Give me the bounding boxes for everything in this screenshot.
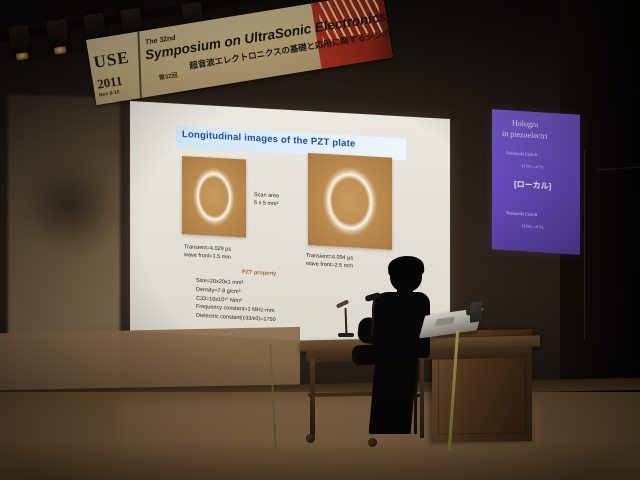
desk-caster xyxy=(368,438,377,447)
spotlight-icon xyxy=(8,25,32,57)
desk-leg xyxy=(420,356,424,438)
secondary-slide-author-line2: Nobuyuki Endoh xyxy=(506,210,537,217)
wall-seam-vertical xyxy=(584,150,585,340)
secondary-slide-affiliation-line1: (Univ. of Sc xyxy=(522,163,544,169)
secondary-slide-title-line1: Hologra xyxy=(512,118,538,129)
secondary-slide-affiliation-line2: (Univ. of Sc xyxy=(522,223,544,229)
pzt-property-list: Size=20x20x1 mm³ Density=7.8 g/cm³ C33=1… xyxy=(196,277,276,325)
laptop-screen xyxy=(470,301,482,323)
banner-divider xyxy=(137,32,141,98)
presenter-hair xyxy=(387,255,424,279)
secondary-slide-title-line2: in piezoelectri xyxy=(502,129,548,141)
desk-caster xyxy=(306,434,315,443)
caption-right-image: Transient=4.094 µs wave front=2.5 mm xyxy=(306,253,353,272)
desk-leg xyxy=(310,358,315,436)
projection-screen-secondary: Hologra in piezoelectri Nobuyuki Endoh (… xyxy=(492,109,580,255)
microphone-base xyxy=(338,333,354,337)
scan-area-label: Scan area 6 x 5 mm² xyxy=(254,192,279,209)
scan-area-value: 6 x 5 mm² xyxy=(254,200,279,209)
banner-japanese-ordinal: 第32回 xyxy=(158,70,178,82)
longitudinal-image-right xyxy=(308,153,392,250)
caption-left-wavefront: wave front=1.5 mm xyxy=(184,252,231,263)
caption-left-image: Transient=4.029 µs wave front=1.5 mm xyxy=(184,244,231,263)
secondary-slide-japanese-heading: [ローカル] xyxy=(514,179,551,192)
caption-right-wavefront: wave front=2.5 mm xyxy=(306,261,353,272)
presentation-scene: USE 2011 Nov 8-10 The 32nd Symposium on … xyxy=(0,0,640,480)
stage-apron xyxy=(0,327,300,391)
presenter-legs xyxy=(369,356,418,434)
chair-leg xyxy=(414,394,417,434)
spotlight-icon xyxy=(46,19,70,51)
secondary-slide-author-line1: Nobuyuki Endoh xyxy=(506,150,537,157)
banner-acronym: USE xyxy=(92,47,131,73)
pzt-property-heading: PZT property xyxy=(242,269,276,277)
longitudinal-image-left xyxy=(182,156,246,238)
